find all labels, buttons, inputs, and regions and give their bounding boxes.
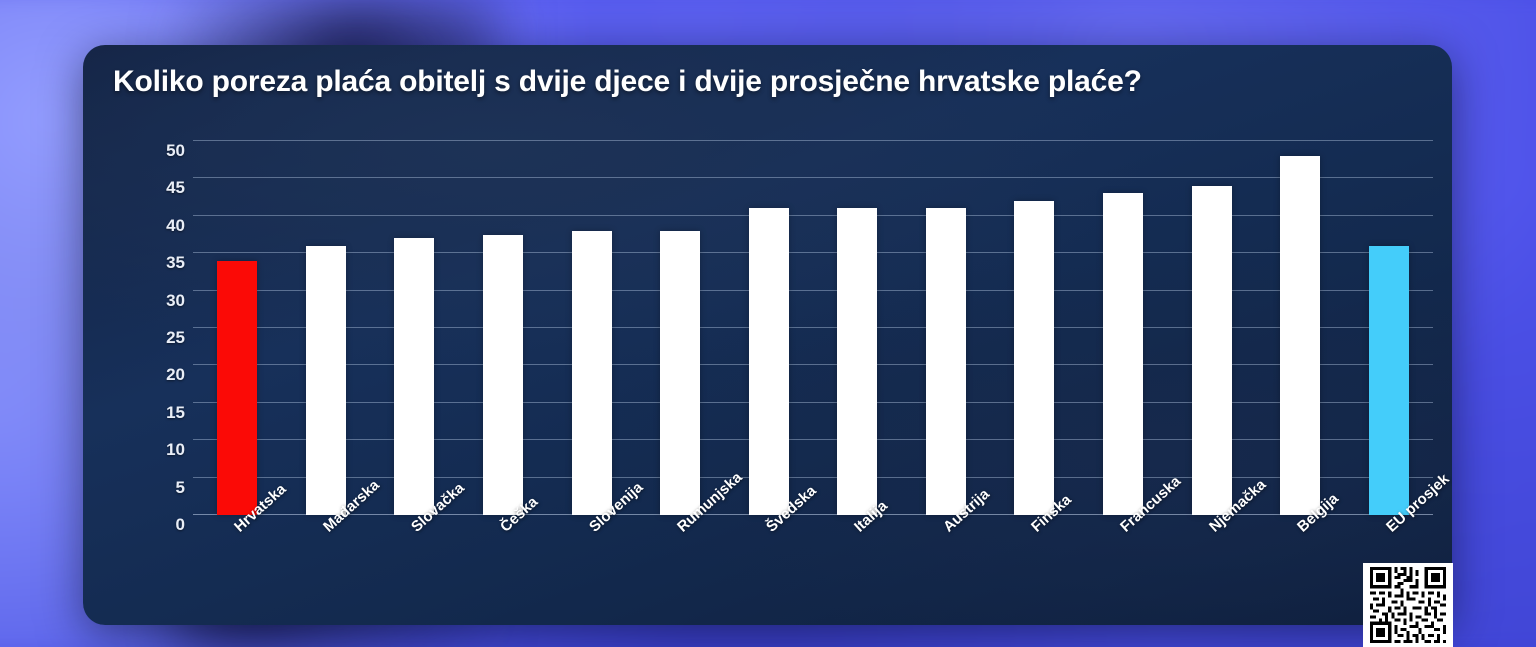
bar-slot [990, 141, 1079, 515]
chart-title: Koliko poreza plaća obitelj s dvije djec… [113, 65, 1142, 99]
bar-njemačka[interactable] [1192, 186, 1232, 515]
chart-card: Koliko poreza plaća obitelj s dvije djec… [83, 45, 1452, 625]
bar-finska[interactable] [1014, 201, 1054, 515]
bar-rumunjska[interactable] [660, 231, 700, 515]
bar-slot [1167, 141, 1256, 515]
bar-slot [902, 141, 991, 515]
bar-series [193, 141, 1433, 515]
bar-hrvatska[interactable] [217, 261, 257, 515]
bar-slot [1079, 141, 1168, 515]
bar-slot [724, 141, 813, 515]
bar-mađarska[interactable] [306, 246, 346, 515]
bar-slovačka[interactable] [394, 238, 434, 515]
bar-eu-prosjek[interactable] [1369, 246, 1409, 515]
bar-slovenija[interactable] [572, 231, 612, 515]
bar-slot [813, 141, 902, 515]
bar-slot [547, 141, 636, 515]
bar-italija[interactable] [837, 208, 877, 515]
bar-slot [1256, 141, 1345, 515]
bar-francuska[interactable] [1103, 193, 1143, 515]
bar-austrija[interactable] [926, 208, 966, 515]
bar-švedska[interactable] [749, 208, 789, 515]
qr-code-icon[interactable] [1363, 563, 1453, 647]
bar-belgija[interactable] [1280, 156, 1320, 515]
plot-area: 50454035302520151050 HrvatskaMađarskaSlo… [193, 141, 1433, 515]
bar-slot [193, 141, 282, 515]
bar-slot [370, 141, 459, 515]
bar-slot [282, 141, 371, 515]
bar-slot [459, 141, 548, 515]
bar-slot [636, 141, 725, 515]
bar-slot [1345, 141, 1434, 515]
bar-češka[interactable] [483, 235, 523, 516]
